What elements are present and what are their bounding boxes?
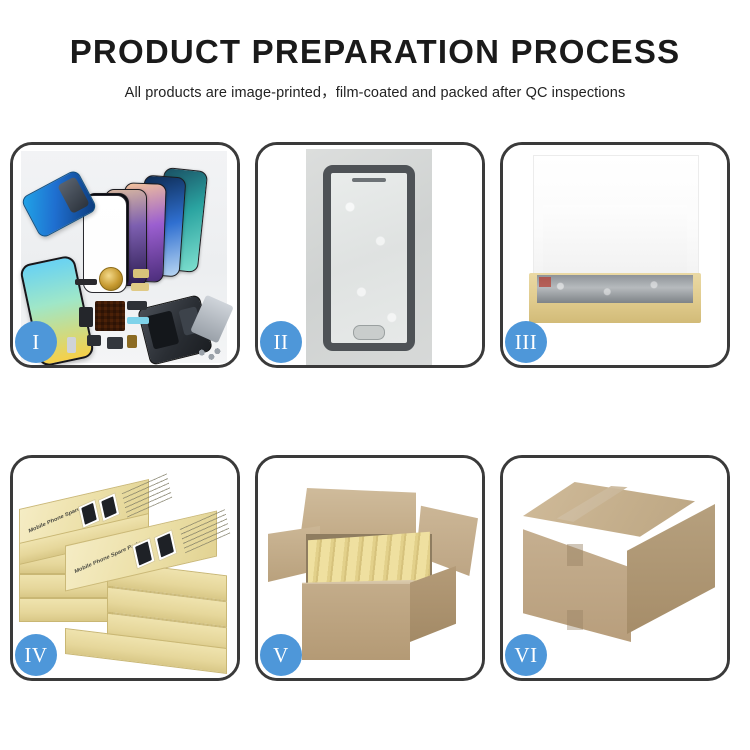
screws-group <box>197 347 221 361</box>
spare-part <box>127 301 147 310</box>
step-panel-3: III <box>500 142 730 368</box>
step-badge-2: II <box>260 321 302 363</box>
wrapped-screen-in-box <box>537 275 693 303</box>
box-spec-lines <box>180 509 230 553</box>
page-subtitle: All products are image-printed，film-coat… <box>0 81 750 102</box>
step-badge-4: IV <box>15 634 57 676</box>
step-badge-1: I <box>15 321 57 363</box>
step-badge-3: III <box>505 321 547 363</box>
step-badge-5: V <box>260 634 302 676</box>
product-preparation-infographic: PRODUCT PREPARATION PROCESS All products… <box>0 0 750 750</box>
carton-seam-upper <box>567 544 583 566</box>
page-title: PRODUCT PREPARATION PROCESS <box>0 34 750 70</box>
box-spec-lines <box>122 473 172 517</box>
carton-front-face <box>302 584 410 660</box>
box-window <box>154 529 178 561</box>
flex-cable-part <box>127 317 149 324</box>
step-panel-5: V <box>255 455 485 681</box>
bubble-wrap-photo <box>306 149 432 365</box>
wrapped-screen <box>323 165 415 351</box>
spare-part <box>133 269 149 278</box>
step-panel-4: Mobile Phone Spare Parts Mobile Phone Sp… <box>10 455 240 681</box>
box-window <box>98 492 121 522</box>
step-badge-6: VI <box>505 634 547 676</box>
step-panel-6: VI <box>500 455 730 681</box>
carton-seam-lower <box>567 610 583 630</box>
speaker-coil-part <box>99 267 123 291</box>
spare-part <box>79 307 93 327</box>
home-button-icon <box>353 325 385 340</box>
steps-grid: I II <box>10 142 740 681</box>
header: PRODUCT PREPARATION PROCESS All products… <box>0 34 750 102</box>
spare-part <box>107 337 123 349</box>
bubble-texture <box>331 173 407 343</box>
sealed-carton <box>523 482 715 662</box>
mailer-box-inner-lid <box>543 205 687 277</box>
spare-part <box>87 335 101 346</box>
open-carton <box>272 480 472 666</box>
spare-part <box>67 337 76 353</box>
spare-part <box>127 335 137 348</box>
label-sticker <box>539 277 551 287</box>
spare-part <box>75 279 97 285</box>
circuit-board-part <box>95 301 125 331</box>
stacked-box <box>19 598 113 622</box>
spare-part <box>131 283 149 291</box>
step-panel-2: II <box>255 142 485 368</box>
step-panel-1: I <box>10 142 240 368</box>
